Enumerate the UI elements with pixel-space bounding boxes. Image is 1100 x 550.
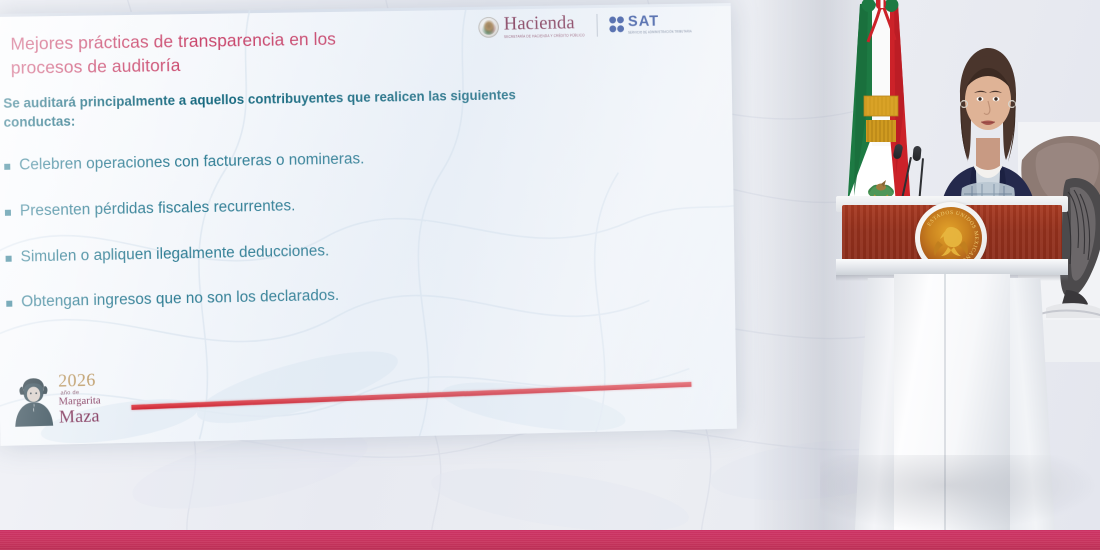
sat-four-dots-icon xyxy=(609,17,624,33)
sat-logo: SAT SERVICIO DE ADMINISTRACIÓN TRIBUTARI… xyxy=(609,13,692,35)
bullet-square-icon xyxy=(6,255,12,261)
list-item: Simulen o apliquen ilegalmente deduccion… xyxy=(5,237,559,269)
list-item-label: Presenten pérdidas fiscales recurrentes. xyxy=(20,196,296,222)
hacienda-logo-name: Hacienda xyxy=(504,13,585,33)
sat-logo-name: SAT xyxy=(628,13,692,29)
podium-shelf xyxy=(836,259,1068,275)
list-item: Obtengan ingresos que no son los declara… xyxy=(6,282,560,314)
bullet-square-icon xyxy=(6,301,12,307)
badge-year: 2026 xyxy=(58,371,100,390)
mexican-eagle-seal-icon xyxy=(478,16,499,37)
scene-stage: Hacienda SECRETARÍA DE HACIENDA Y CRÉDIT… xyxy=(0,0,1100,550)
slide-logo-row: Hacienda SECRETARÍA DE HACIENDA Y CRÉDIT… xyxy=(478,11,692,39)
year-badge: 2026 año de Margarita Maza xyxy=(13,371,101,430)
slide-bullet-list: Celebren operaciones con factureras o no… xyxy=(4,146,560,339)
bullet-square-icon xyxy=(4,164,10,170)
projected-slide: Hacienda SECRETARÍA DE HACIENDA Y CRÉDIT… xyxy=(0,3,737,446)
list-item-label: Simulen o apliquen ilegalmente deduccion… xyxy=(20,241,329,268)
bottom-color-band xyxy=(0,530,1100,550)
logo-divider xyxy=(596,13,597,36)
floor-shadow xyxy=(820,455,1100,531)
margarita-maza-portrait-icon xyxy=(13,374,54,430)
sat-logo-subtitle: SERVICIO DE ADMINISTRACIÓN TRIBUTARIA xyxy=(628,30,692,35)
badge-last-name: Maza xyxy=(59,406,101,425)
slide-title: Mejores prácticas de transparencia en lo… xyxy=(10,26,407,80)
hacienda-logo: Hacienda SECRETARÍA DE HACIENDA Y CRÉDIT… xyxy=(478,13,585,39)
bullet-square-icon xyxy=(5,210,11,216)
list-item-label: Obtengan ingresos que no son los declara… xyxy=(21,286,339,313)
list-item: Presenten pérdidas fiscales recurrentes. xyxy=(5,191,559,222)
